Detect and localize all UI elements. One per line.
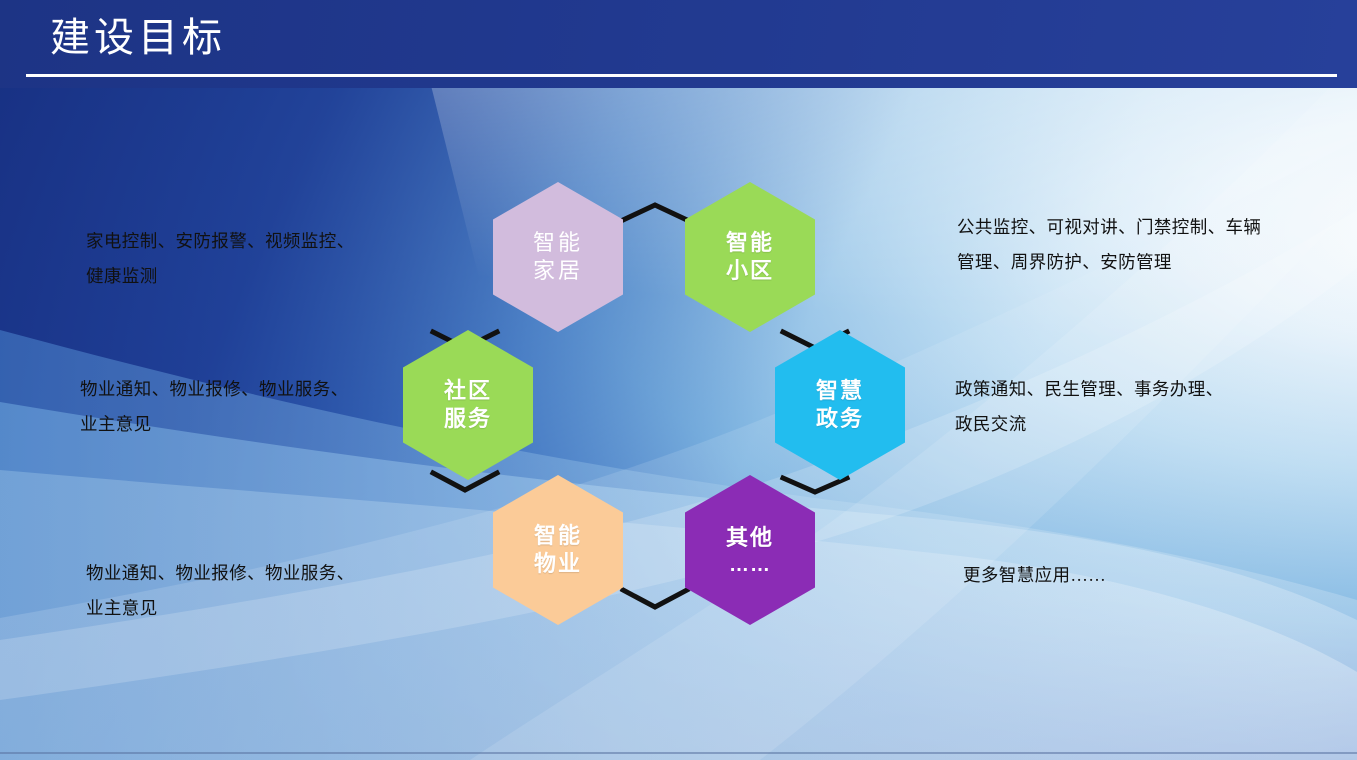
page-title: 建设目标 [50,12,226,64]
header-underline [26,74,1337,77]
caption-community-service: 物业通知、物业报修、物业服务、 业主意见 [80,372,410,442]
hex-label-smart-government: 智慧 政务 [816,377,864,433]
caption-smart-property: 物业通知、物业报修、物业服务、 业主意见 [86,556,416,626]
caption-smart-government: 政策通知、民生管理、事务办理、 政民交流 [955,372,1295,442]
hex-label-smart-home: 智能 家居 [533,229,583,285]
slide-bottom-rule [0,752,1357,754]
hex-label-smart-community: 智能 小区 [726,229,774,285]
hex-label-smart-property: 智能 物业 [534,522,582,578]
caption-smart-home: 家电控制、安防报警、视频监控、 健康监测 [86,224,416,294]
caption-smart-community: 公共监控、可视对讲、门禁控制、车辆 管理、周界防护、安防管理 [957,210,1317,280]
hex-label-other: 其他 [726,524,774,552]
hex-sublabel-other: …… [729,554,771,576]
caption-other: 更多智慧应用…… [963,558,1303,593]
hex-label-community-service: 社区 服务 [444,377,492,433]
slide-canvas: 建设目标 智能 家居 智能 小区 社区 服务 智慧 政务 智能 物业 其他 ……… [0,0,1357,760]
slide-header: 建设目标 [0,0,1357,88]
